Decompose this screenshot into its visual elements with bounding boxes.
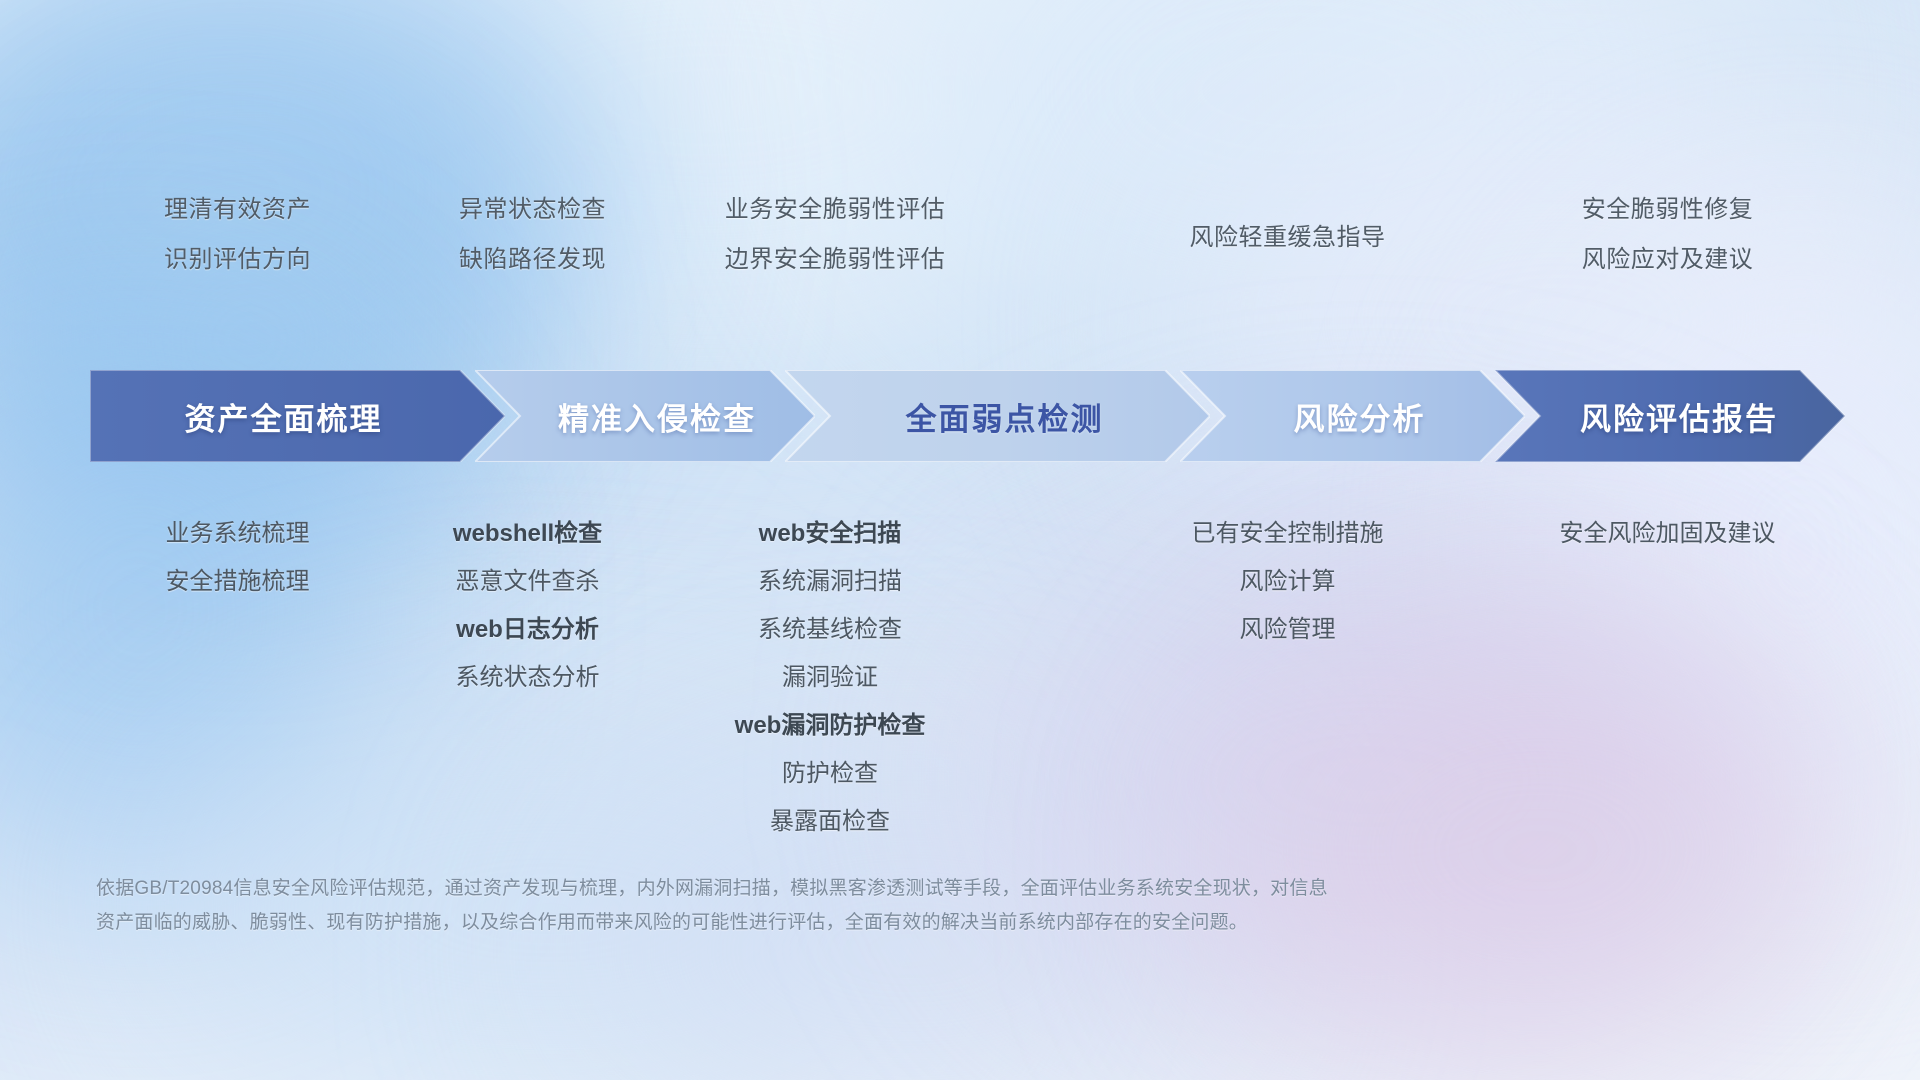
bottom-label: 已有安全控制措施	[1120, 510, 1455, 558]
stage-label: 全面弱点检测	[906, 394, 1104, 439]
top-labels-assessment-report: 安全脆弱性修复 风险应对及建议	[1500, 185, 1835, 285]
bottom-label: 安全风险加固及建议	[1500, 510, 1835, 558]
bottom-label: 防护检查	[635, 750, 1025, 798]
top-label: 缺陷路径发现	[385, 235, 680, 285]
bottom-label: web安全扫描	[635, 510, 1025, 558]
bottom-label: 风险管理	[1120, 606, 1455, 654]
top-label: 风险应对及建议	[1500, 235, 1835, 285]
top-labels-intrusion-check: 异常状态检查 缺陷路径发现	[385, 185, 680, 285]
bottom-label: 恶意文件查杀	[380, 558, 675, 606]
bottom-label: 安全措施梳理	[90, 558, 385, 606]
top-label: 业务安全脆弱性评估	[640, 185, 1030, 235]
bottom-label: web漏洞防护检查	[635, 702, 1025, 750]
top-labels-risk-analysis: 风险轻重缓急指导	[1120, 213, 1455, 263]
top-labels-weakness-detection: 业务安全脆弱性评估 边界安全脆弱性评估	[640, 185, 1030, 285]
stage-label: 风险评估报告	[1580, 394, 1778, 439]
bottom-label: 系统基线检查	[635, 606, 1025, 654]
bottom-label: 系统漏洞扫描	[635, 558, 1025, 606]
bottom-label: 业务系统梳理	[90, 510, 385, 558]
bottom-label: 漏洞验证	[635, 654, 1025, 702]
top-label: 识别评估方向	[90, 235, 385, 285]
bottom-label: 风险计算	[1120, 558, 1455, 606]
top-label: 安全脆弱性修复	[1500, 185, 1835, 235]
bottom-label: webshell检查	[380, 510, 675, 558]
bottom-labels-asset-inventory: 业务系统梳理 安全措施梳理	[90, 510, 385, 606]
stage-label: 风险分析	[1294, 394, 1426, 439]
stage-chevron-asset-inventory[interactable]: 资产全面梳理	[90, 370, 505, 462]
stage-chevron-assessment-report[interactable]: 风险评估报告	[1495, 370, 1845, 462]
stage-label: 精准入侵检查	[558, 394, 756, 439]
bottom-labels-row: 业务系统梳理 安全措施梳理 webshell检查 恶意文件查杀 web日志分析 …	[0, 470, 1920, 770]
process-diagram: 理清有效资产 识别评估方向 异常状态检查 缺陷路径发现 业务安全脆弱性评估 边界…	[0, 0, 1920, 1080]
top-labels-asset-inventory: 理清有效资产 识别评估方向	[90, 185, 385, 285]
footer-line-1: 依据GB/T20984信息安全风险评估规范，通过资产发现与梳理，内外网漏洞扫描，…	[96, 872, 1656, 906]
stage-chevron-intrusion-check[interactable]: 精准入侵检查	[475, 370, 815, 462]
bottom-label: 系统状态分析	[380, 654, 675, 702]
stage-chevron-banner: 资产全面梳理 精准入侵检查	[90, 370, 1845, 462]
top-labels-row: 理清有效资产 识别评估方向 异常状态检查 缺陷路径发现 业务安全脆弱性评估 边界…	[0, 0, 1920, 300]
bottom-labels-risk-analysis: 已有安全控制措施 风险计算 风险管理	[1120, 510, 1455, 654]
bottom-labels-intrusion-check: webshell检查 恶意文件查杀 web日志分析 系统状态分析	[380, 510, 675, 702]
bottom-label: 暴露面检查	[635, 798, 1025, 846]
bottom-labels-weakness-detection: web安全扫描 系统漏洞扫描 系统基线检查 漏洞验证 web漏洞防护检查 防护检…	[635, 510, 1025, 846]
stage-chevron-weakness-detection[interactable]: 全面弱点检测	[785, 370, 1210, 462]
footer-description: 依据GB/T20984信息安全风险评估规范，通过资产发现与梳理，内外网漏洞扫描，…	[96, 872, 1656, 940]
stage-label: 资产全面梳理	[185, 394, 383, 439]
bottom-labels-assessment-report: 安全风险加固及建议	[1500, 510, 1835, 558]
stage-chevron-risk-analysis[interactable]: 风险分析	[1180, 370, 1525, 462]
top-label: 理清有效资产	[90, 185, 385, 235]
top-label: 边界安全脆弱性评估	[640, 235, 1030, 285]
top-label: 风险轻重缓急指导	[1120, 213, 1455, 263]
footer-line-2: 资产面临的威胁、脆弱性、现有防护措施，以及综合作用而带来风险的可能性进行评估，全…	[96, 906, 1656, 940]
bottom-label: web日志分析	[380, 606, 675, 654]
top-label: 异常状态检查	[385, 185, 680, 235]
